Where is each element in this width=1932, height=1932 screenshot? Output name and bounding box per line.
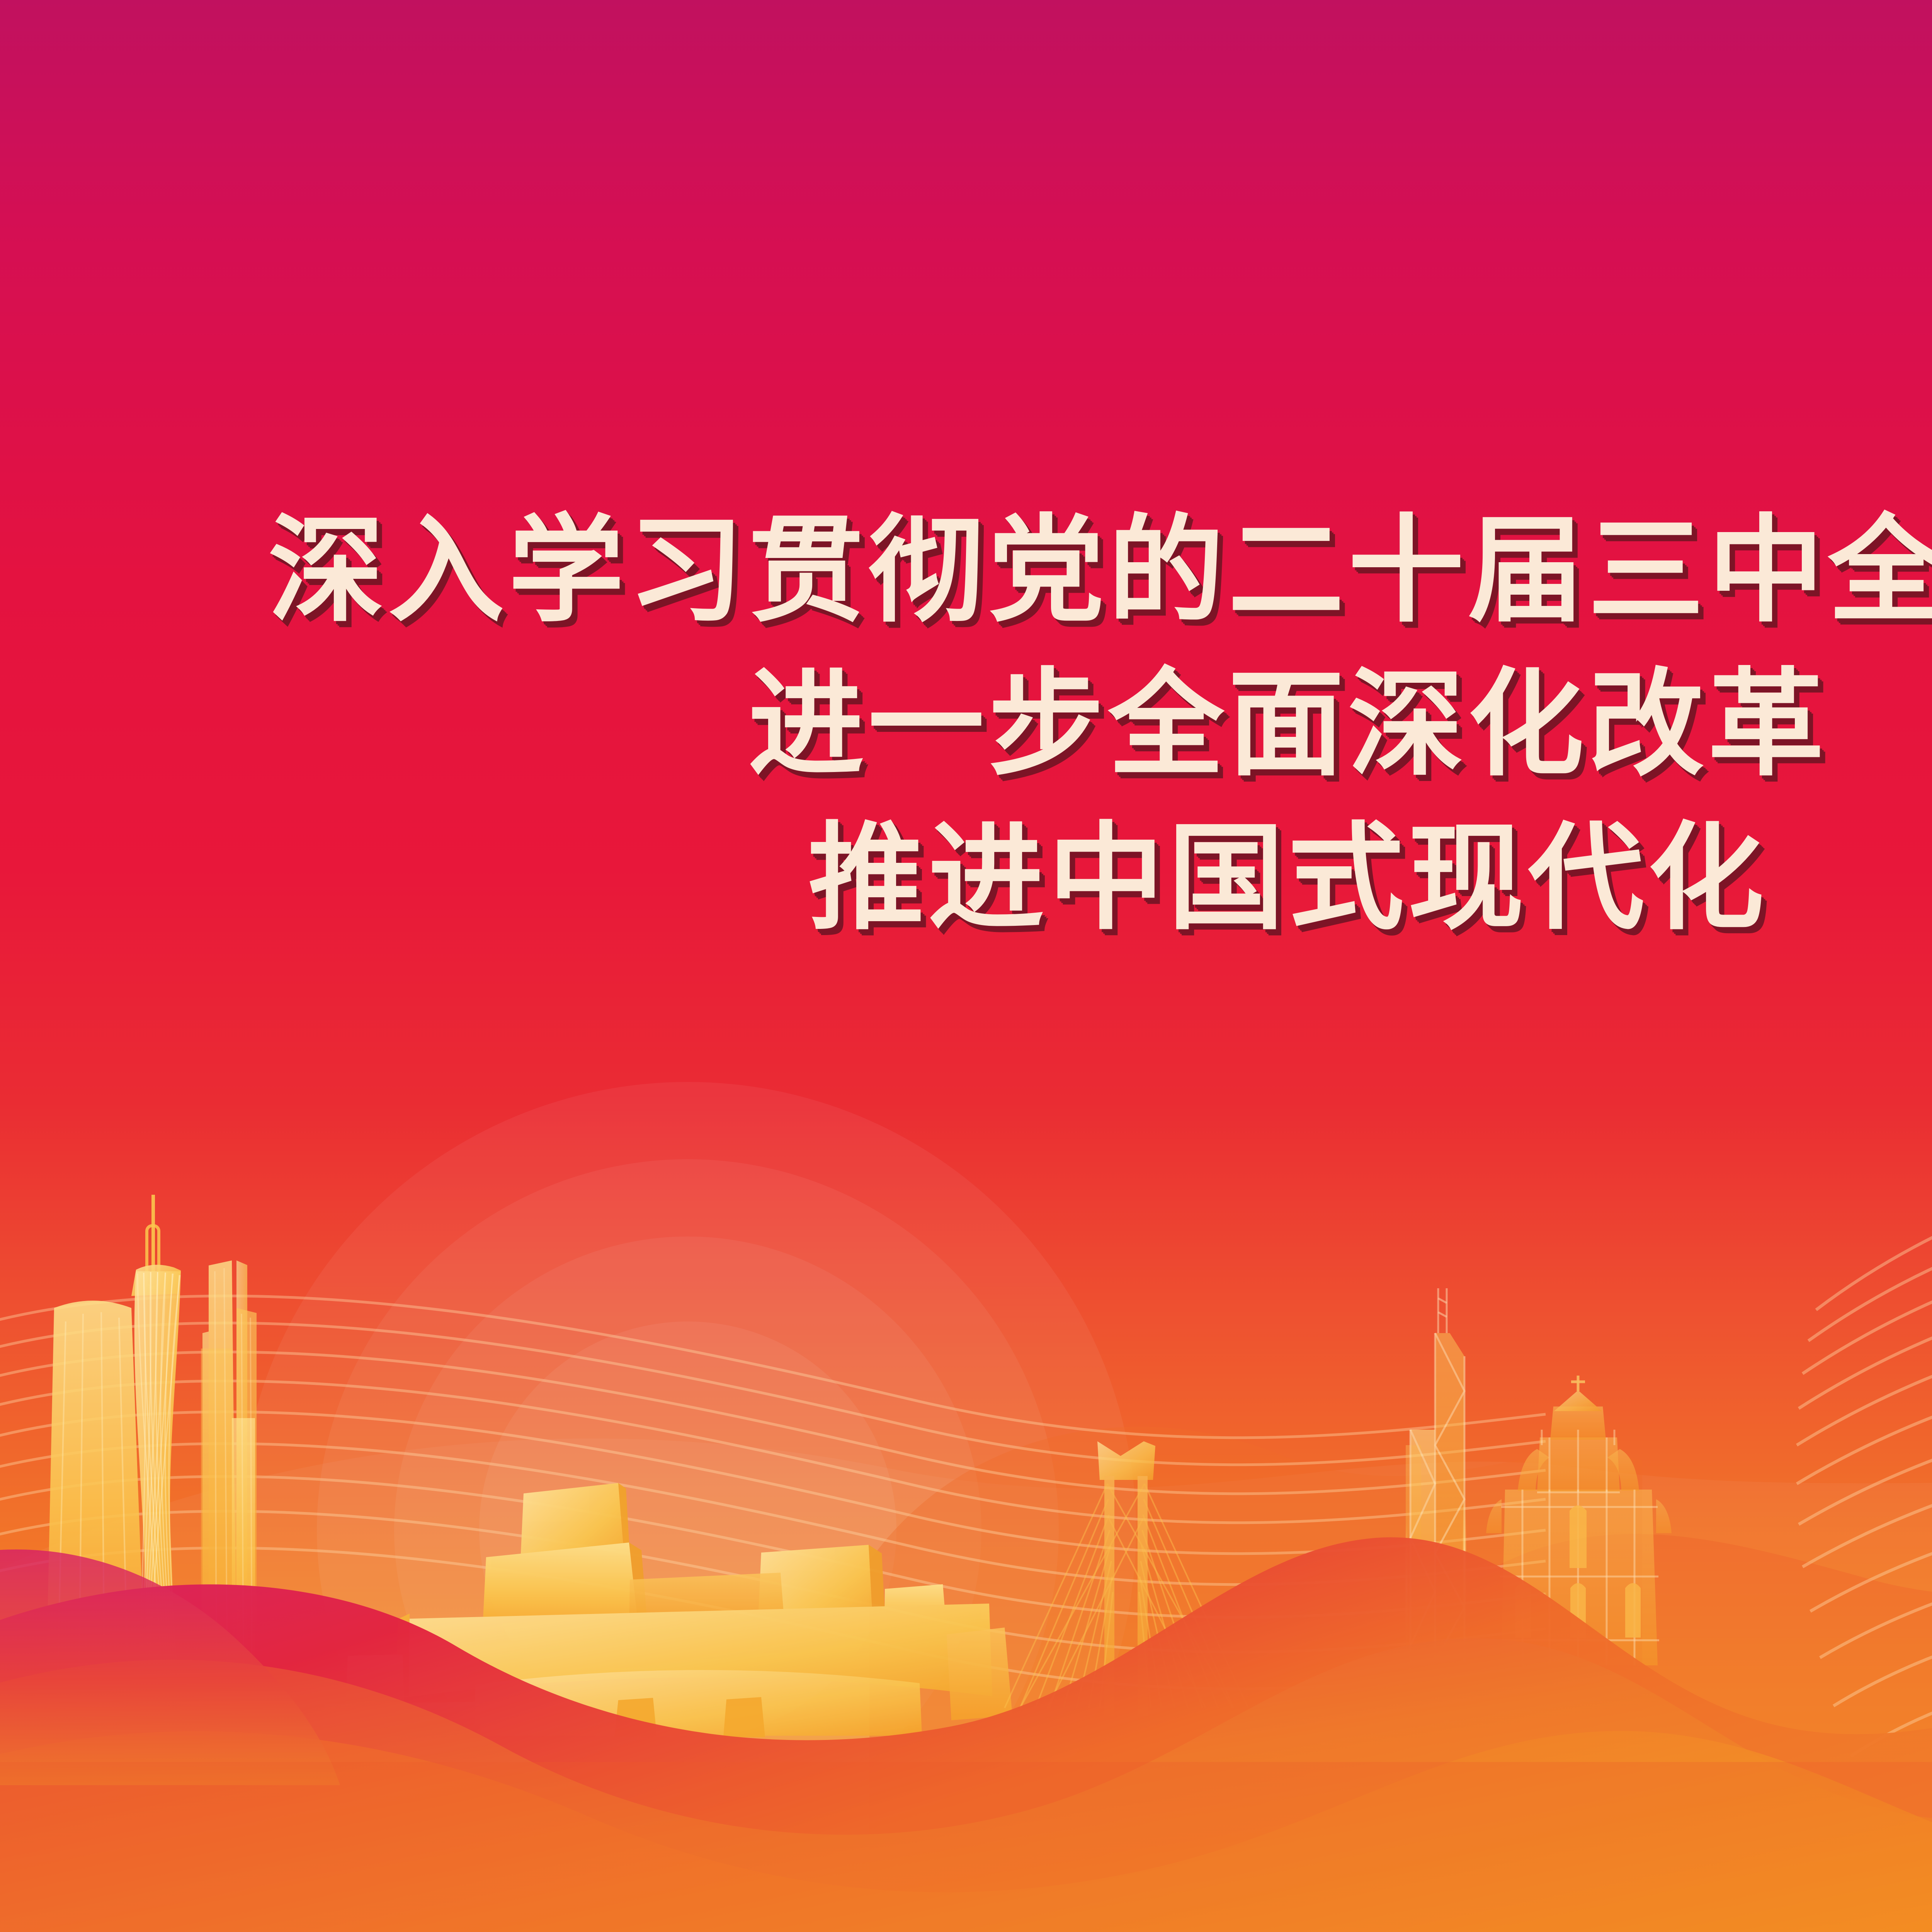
- bottom-haze: [0, 1762, 1932, 1932]
- background-artwork: [0, 0, 1932, 1932]
- poster-canvas: 深入学习贯彻党的二十届三中全会精神 进一步全面深化改革 推进中国式现代化: [0, 0, 1932, 1932]
